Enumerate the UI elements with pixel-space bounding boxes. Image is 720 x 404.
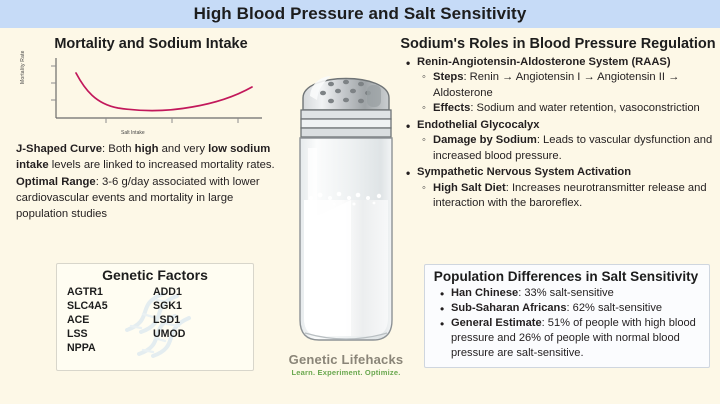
sodium-roles-list: Renin-Angiotensin-Aldosterone System (RA… xyxy=(400,55,716,212)
gene-item: ACE xyxy=(67,314,153,328)
sub-lead: High Salt Diet xyxy=(433,182,506,194)
left-column: Mortality and Sodium Intake Mortality Ra… xyxy=(16,36,286,223)
page-title: High Blood Pressure and Salt Sensitivity xyxy=(194,4,527,24)
population-text: : 33% salt-sensitive xyxy=(518,287,614,299)
j-curve-emph-high: high xyxy=(135,143,159,155)
j-curve-mid: and very xyxy=(159,143,209,155)
optimal-range-lead: Optimal Range xyxy=(16,176,96,188)
genetic-factors-box: Genetic Factors AGTR1 SLC4A5 ACE xyxy=(56,263,254,371)
chart-y-axis-label: Mortality Rate xyxy=(20,28,26,84)
gene-column-right: ADD1 SGK1 LSD1 UMOD xyxy=(153,286,239,356)
list-item: Damage by Sodium: Leads to vascular dysf… xyxy=(433,133,716,164)
genetic-factors-columns: AGTR1 SLC4A5 ACE LSS NPPA ADD1 SGK1 LSD1… xyxy=(57,283,253,356)
list-item: Endothelial Glycocalyx Damage by Sodium:… xyxy=(417,118,716,164)
gene-item: UMOD xyxy=(153,328,239,342)
gene-item: AGTR1 xyxy=(67,286,153,300)
infographic-page: High Blood Pressure and Salt Sensitivity… xyxy=(0,0,720,404)
gene-item: NPPA xyxy=(67,342,153,356)
sub-text: : Renin → Angiotensin I → Angiotensin II… xyxy=(433,71,679,98)
sodium-roles-title: Sodium's Roles in Blood Pressure Regulat… xyxy=(400,36,716,52)
gene-item: SLC4A5 xyxy=(67,300,153,314)
mortality-description: J-Shaped Curve: Both high and very low s… xyxy=(16,141,280,222)
population-differences-box: Population Differences in Salt Sensitivi… xyxy=(424,264,710,368)
brand-block: Genetic Lifehacks Learn. Experiment. Opt… xyxy=(278,352,414,377)
population-list: Han Chinese: 33% salt-sensitive Sub-Saha… xyxy=(429,286,703,361)
right-column: Sodium's Roles in Blood Pressure Regulat… xyxy=(400,36,716,213)
population-lead: General Estimate xyxy=(451,317,542,329)
role-label: Renin-Angiotensin-Aldosterone System (RA… xyxy=(417,56,671,68)
population-lead: Han Chinese xyxy=(451,287,518,299)
population-text: : 62% salt-sensitive xyxy=(567,302,663,314)
optimal-range-paragraph: Optimal Range: 3-6 g/day associated with… xyxy=(16,174,280,222)
list-item: Sub-Saharan Africans: 62% salt-sensitive xyxy=(451,301,703,316)
gene-item: SGK1 xyxy=(153,300,239,314)
salt-shaker-illustration xyxy=(287,52,405,352)
j-curve-lead: J-Shaped Curve xyxy=(16,143,102,155)
list-item: Han Chinese: 33% salt-sensitive xyxy=(451,286,703,301)
list-item: General Estimate: 51% of people with hig… xyxy=(451,316,703,361)
list-item: Steps: Renin → Angiotensin I → Angiotens… xyxy=(433,70,716,101)
sub-text: : Sodium and water retention, vasoconstr… xyxy=(470,102,699,114)
gene-item: LSS xyxy=(67,328,153,342)
list-item: Renin-Angiotensin-Aldosterone System (RA… xyxy=(417,55,716,117)
chart-plot-area xyxy=(40,56,266,132)
population-lead: Sub-Saharan Africans xyxy=(451,302,567,314)
header-band: High Blood Pressure and Salt Sensitivity xyxy=(0,0,720,28)
gene-item: ADD1 xyxy=(153,286,239,300)
sub-lead: Steps xyxy=(433,71,463,83)
sub-lead: Damage by Sodium xyxy=(433,134,537,146)
gene-item: LSD1 xyxy=(153,314,239,328)
role-sublist: High Salt Diet: Increases neurotransmitt… xyxy=(417,181,716,212)
j-curve-sep: : Both xyxy=(102,143,135,155)
genetic-factors-title: Genetic Factors xyxy=(57,264,253,283)
mortality-section-title: Mortality and Sodium Intake xyxy=(16,36,286,52)
sub-lead: Effects xyxy=(433,102,470,114)
list-item: High Salt Diet: Increases neurotransmitt… xyxy=(433,181,716,212)
j-curve-tail: levels are linked to increased mortality… xyxy=(49,159,275,171)
j-shaped-curve-paragraph: J-Shaped Curve: Both high and very low s… xyxy=(16,141,280,173)
gene-column-left: AGTR1 SLC4A5 ACE LSS NPPA xyxy=(67,286,153,356)
list-item: Sympathetic Nervous System Activation Hi… xyxy=(417,165,716,211)
brand-name: Genetic Lifehacks xyxy=(278,352,414,367)
list-item: Effects: Sodium and water retention, vas… xyxy=(433,101,716,116)
role-sublist: Steps: Renin → Angiotensin I → Angiotens… xyxy=(417,70,716,116)
chart-x-axis-label: Salt Intake xyxy=(121,130,145,136)
population-box-title: Population Differences in Salt Sensitivi… xyxy=(429,269,703,284)
brand-tagline: Learn. Experiment. Optimize. xyxy=(278,368,414,377)
role-sublist: Damage by Sodium: Leads to vascular dysf… xyxy=(417,133,716,164)
role-label: Endothelial Glycocalyx xyxy=(417,119,539,131)
role-label: Sympathetic Nervous System Activation xyxy=(417,166,631,178)
mortality-sodium-chart: Mortality Rate Salt Intake xyxy=(26,56,278,138)
